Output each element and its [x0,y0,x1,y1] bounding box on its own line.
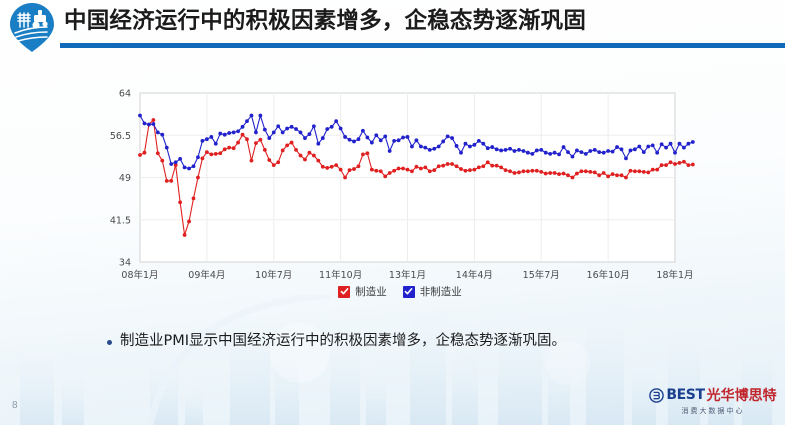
data-point [526,151,530,155]
data-point [290,125,294,129]
data-point [272,163,276,167]
data-point [330,165,334,169]
legend-label: 非制造业 [420,284,462,299]
data-point [544,172,548,176]
data-point [303,136,307,140]
data-point [477,165,481,169]
legend-label: 制造业 [355,284,387,299]
data-point [258,114,262,118]
data-point [218,151,222,155]
data-point [183,233,187,237]
data-point [571,176,575,180]
header-rule [60,43,785,48]
x-axis-tick-label: 15年7月 [523,269,560,281]
data-point [169,162,173,166]
data-point [348,168,352,172]
farm-pin-icon [6,1,58,53]
data-point [138,114,142,118]
data-point [499,149,503,153]
y-axis-tick-label: 49 [119,173,131,184]
data-point [673,162,677,166]
data-point [419,145,423,149]
data-point [201,156,205,160]
data-point [201,139,205,143]
data-point [682,146,686,150]
data-point [481,164,485,168]
data-point [348,138,352,142]
data-point [660,163,664,167]
data-point [196,155,200,159]
data-point [642,170,646,174]
data-point [151,118,155,122]
data-point [446,134,450,138]
data-point [209,135,213,139]
data-point [312,124,316,128]
data-point [508,169,512,173]
footer-logo-mark: BEST [666,387,704,403]
data-point [691,140,695,144]
pmi-chart-canvas: 3441.54956.56408年1月09年4月10年7月11年10月13年1月… [60,52,740,282]
data-point [526,169,530,173]
data-point [160,133,164,137]
data-point [299,131,303,135]
data-point [562,145,566,149]
data-point [187,220,191,224]
data-point [504,148,508,152]
data-point [651,168,655,172]
data-point [584,169,588,173]
data-point [214,142,218,146]
data-point [316,159,320,163]
data-point [615,145,619,149]
footer-logo-name: 光华博思特 [707,385,777,405]
data-point [156,151,160,155]
data-point [620,147,624,151]
data-point [397,138,401,142]
data-point [196,176,200,180]
x-axis-tick-label: 16年10月 [587,269,630,281]
data-point [272,131,276,135]
data-point [651,143,655,147]
y-axis-tick-label: 41.5 [110,215,131,226]
data-point [593,148,597,152]
data-point [178,157,182,161]
data-point [597,150,601,154]
data-point [303,158,307,162]
data-point [397,167,401,171]
data-point [557,153,561,157]
data-point [406,135,410,139]
data-point [472,143,476,147]
data-point [343,135,347,139]
data-point [548,171,552,175]
data-point [343,176,347,180]
legend-item-non-manufacturing[interactable]: 非制造业 [403,284,462,299]
data-point [383,174,387,178]
data-point [245,119,249,123]
data-point [553,171,557,175]
data-point [299,154,303,158]
data-point [160,159,164,163]
data-point [606,174,610,178]
data-point [535,149,539,153]
footer-logo: BEST 光华博思特 消费大数据中心 [649,385,777,419]
data-point [508,147,512,151]
data-point [236,141,240,145]
data-point [691,163,695,167]
data-point [308,151,312,155]
data-point [655,168,659,172]
data-point [236,129,240,133]
data-point [339,168,343,172]
data-point [441,140,445,144]
data-point [468,168,472,172]
data-point [214,152,218,156]
data-point [267,136,271,140]
data-point [664,163,668,167]
data-point [365,151,369,155]
data-point [339,127,343,131]
data-point [370,168,374,172]
data-point [241,125,245,129]
footer-logo-subtitle: 消费大数据中心 [682,406,745,416]
y-axis-tick-label: 34 [119,258,131,269]
data-point [575,149,579,153]
data-point [664,146,668,150]
data-point [325,127,329,131]
checkbox-checked-icon[interactable] [338,286,350,298]
data-point [682,160,686,164]
data-point [365,136,369,140]
data-point [428,148,432,152]
data-point [584,152,588,156]
data-point [147,123,151,127]
data-point [588,149,592,153]
x-axis-tick-label: 11年10月 [319,269,362,281]
data-point [258,138,262,142]
data-point [245,137,249,141]
data-point [254,131,258,135]
data-point [379,169,383,173]
data-point [495,147,499,151]
data-point [374,133,378,137]
page-number: 8 [12,400,18,411]
data-point [530,152,534,156]
data-point [294,127,298,131]
data-point [464,142,468,146]
data-point [241,133,245,137]
data-point [227,131,231,135]
data-point [330,125,334,129]
data-point [174,160,178,164]
data-point [579,150,583,154]
data-point [686,163,690,167]
data-point [223,147,227,151]
data-point [646,171,650,175]
data-point [637,169,641,173]
data-point [495,164,499,168]
data-point [410,145,414,149]
data-point [361,153,365,157]
data-point [464,169,468,173]
data-point [499,165,503,169]
data-point [432,147,436,151]
data-point [669,160,673,164]
data-point [151,122,155,126]
data-point [606,149,610,153]
data-point [401,167,405,171]
data-point [504,168,508,172]
data-point [192,196,196,200]
data-point [624,176,628,180]
data-point [423,146,427,150]
data-point [276,160,280,164]
data-point [187,167,191,171]
data-point [481,142,485,146]
data-point [629,149,633,153]
data-point [165,179,169,183]
data-point [450,136,454,140]
data-point [321,136,325,140]
data-point [388,149,392,153]
data-point [629,169,633,173]
data-point [646,145,650,149]
x-axis-tick-label: 09年4月 [188,269,225,281]
data-point [361,129,365,133]
data-point [642,150,646,154]
data-point [455,164,459,168]
data-point [517,148,521,152]
data-point [374,169,378,173]
data-point [334,119,338,123]
data-point [571,155,575,159]
data-point [517,171,521,175]
data-point [544,151,548,155]
data-point [250,114,254,118]
x-axis-tick-label: 08年1月 [121,269,158,281]
data-point [250,159,254,163]
data-point [535,169,539,173]
data-point [218,132,222,136]
data-point [588,170,592,174]
data-point [401,136,405,140]
data-point [178,200,182,204]
data-point [468,145,472,149]
slide-header: 中国经济运行中的积极因素增多，企稳态势逐渐巩固 [0,0,785,47]
data-point [263,148,267,152]
data-point [415,165,419,169]
data-point [419,167,423,171]
checkbox-checked-icon[interactable] [403,286,415,298]
data-point [624,156,628,160]
data-point [566,173,570,177]
data-point [267,158,271,162]
data-point [513,171,517,175]
data-point [611,150,615,154]
data-point [143,151,147,155]
data-point [637,145,641,149]
bullet-point: 制造业PMI显示中国经济运行中的积极因素增多，企稳态势逐渐巩固。 [107,332,727,352]
pmi-chart: 3441.54956.56408年1月09年4月10年7月11年10月13年1月… [60,52,740,317]
data-point [232,131,236,135]
data-point [678,142,682,146]
data-point [392,169,396,173]
data-point [486,160,490,164]
data-point [655,151,659,155]
data-point [379,138,383,142]
data-point [276,124,280,128]
data-point [633,147,637,151]
data-point [285,127,289,131]
data-point [143,122,147,126]
data-point [325,166,329,170]
data-point [548,152,552,156]
data-point [357,137,361,141]
data-point [513,149,517,153]
data-point [254,141,258,145]
x-axis-tick-label: 14年4月 [456,269,493,281]
data-point [553,151,557,155]
data-point [566,150,570,154]
data-point [183,165,187,169]
data-point [455,144,459,148]
x-axis-tick-label: 13年1月 [389,269,426,281]
legend-item-manufacturing[interactable]: 制造业 [338,284,387,299]
data-point [446,162,450,166]
data-point [321,165,325,169]
data-point [575,172,579,176]
data-point [522,169,526,173]
data-point [490,145,494,149]
data-point [205,150,209,154]
data-point [593,171,597,175]
data-point [477,139,481,143]
data-point [597,173,601,177]
data-point [388,171,392,175]
data-point [432,168,436,172]
data-point [459,167,463,171]
data-point [281,131,285,135]
data-point [357,164,361,168]
data-point [370,141,374,145]
best-emblem-icon [649,388,664,403]
data-point [539,148,543,152]
data-point [611,172,615,176]
data-point [281,149,285,153]
data-point [579,169,583,173]
x-axis-tick-label: 18年1月 [656,269,693,281]
data-point [138,153,142,157]
data-point [192,164,196,168]
data-point [316,142,320,146]
y-axis-tick-label: 56.5 [110,131,131,142]
data-point [209,153,213,157]
data-point [227,146,231,150]
data-point [410,169,414,173]
data-point [441,164,445,168]
data-point [428,169,432,173]
data-point [678,161,682,165]
data-point [232,146,236,150]
data-point [539,170,543,174]
data-point [165,146,169,150]
data-point [530,169,534,173]
data-point [486,146,490,150]
y-axis-tick-label: 64 [119,89,131,100]
data-point [669,142,673,146]
data-point [686,142,690,146]
data-point [423,165,427,169]
data-point [169,179,173,183]
data-point [156,131,160,135]
data-point [615,173,619,177]
data-point [459,151,463,155]
data-point [352,140,356,144]
data-point [450,162,454,166]
data-point [562,172,566,176]
data-point [472,168,476,172]
data-point [392,139,396,143]
chart-legend: 制造业 非制造业 [60,284,740,299]
data-point [522,149,526,153]
data-point [660,142,664,146]
data-point [673,151,677,155]
data-point [557,172,561,176]
data-point [223,133,227,137]
data-point [620,173,624,177]
data-point [308,132,312,136]
data-point [294,148,298,152]
data-point [334,163,338,167]
data-point [383,134,387,138]
data-point [352,167,356,171]
data-point [415,138,419,142]
footer-logo-main: BEST 光华博思特 [649,385,776,405]
data-point [290,141,294,145]
data-point [285,143,289,147]
data-point [602,171,606,175]
data-point [312,154,316,158]
bullet-text: 制造业PMI显示中国经济运行中的积极因素增多，企稳态势逐渐巩固。 [120,332,566,352]
data-point [490,164,494,168]
data-point [205,137,209,141]
data-point [437,145,441,149]
x-axis-tick-label: 10年7月 [255,269,292,281]
data-point [437,164,441,168]
page-title: 中国经济运行中的积极因素增多，企稳态势逐渐巩固 [64,3,586,35]
data-point [406,168,410,172]
data-point [633,169,637,173]
data-point [263,128,267,132]
bullet-dot-icon [107,340,112,345]
data-point [602,151,606,155]
